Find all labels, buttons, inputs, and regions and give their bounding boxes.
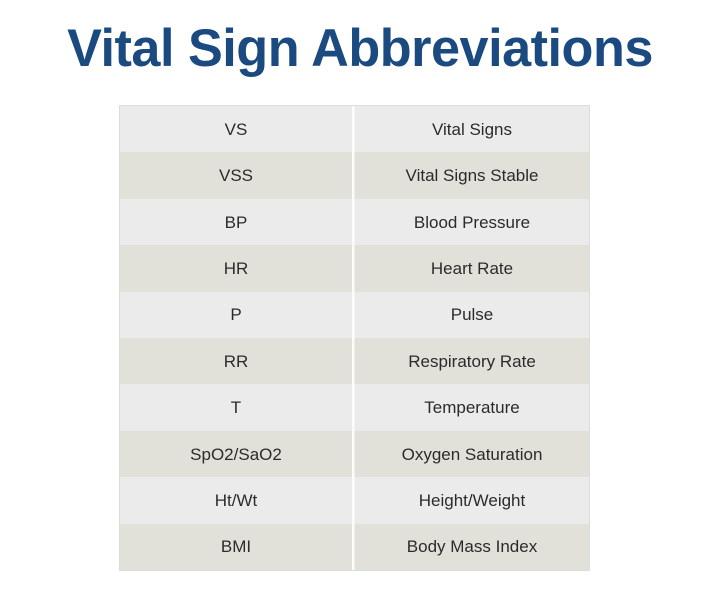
meaning-cell: Vital Signs xyxy=(354,106,589,152)
meaning-cell: Heart Rate xyxy=(354,245,589,291)
abbreviation-cell: Ht/Wt xyxy=(120,477,354,523)
meaning-cell: Respiratory Rate xyxy=(354,338,589,384)
meaning-cell: Body Mass Index xyxy=(354,524,589,570)
abbreviation-cell: SpO2/SaO2 xyxy=(120,431,354,477)
table-row: SpO2/SaO2 Oxygen Saturation xyxy=(120,431,589,477)
table-row: BMI Body Mass Index xyxy=(120,524,589,570)
abbreviation-cell: VSS xyxy=(120,152,354,198)
table-row: VS Vital Signs xyxy=(120,106,589,152)
abbreviation-cell: BP xyxy=(120,199,354,245)
table-row: HR Heart Rate xyxy=(120,245,589,291)
table-row: VSS Vital Signs Stable xyxy=(120,152,589,198)
abbreviation-cell: T xyxy=(120,384,354,430)
meaning-cell: Temperature xyxy=(354,384,589,430)
meaning-cell: Height/Weight xyxy=(354,477,589,523)
table-row: RR Respiratory Rate xyxy=(120,338,589,384)
meaning-cell: Oxygen Saturation xyxy=(354,431,589,477)
meaning-cell: Vital Signs Stable xyxy=(354,152,589,198)
meaning-cell: Blood Pressure xyxy=(354,199,589,245)
page-title: Vital Sign Abbreviations xyxy=(5,0,714,96)
abbreviation-cell: VS xyxy=(120,106,354,152)
meaning-cell: Pulse xyxy=(354,292,589,338)
abbreviation-cell: BMI xyxy=(120,524,354,570)
table-row: T Temperature xyxy=(120,384,589,430)
table-row: P Pulse xyxy=(120,292,589,338)
abbreviation-cell: HR xyxy=(120,245,354,291)
vital-sign-abbreviations-table: VS Vital Signs VSS Vital Signs Stable BP… xyxy=(119,105,590,571)
abbreviation-cell: RR xyxy=(120,338,354,384)
table-row: Ht/Wt Height/Weight xyxy=(120,477,589,523)
abbreviation-cell: P xyxy=(120,292,354,338)
table-row: BP Blood Pressure xyxy=(120,199,589,245)
